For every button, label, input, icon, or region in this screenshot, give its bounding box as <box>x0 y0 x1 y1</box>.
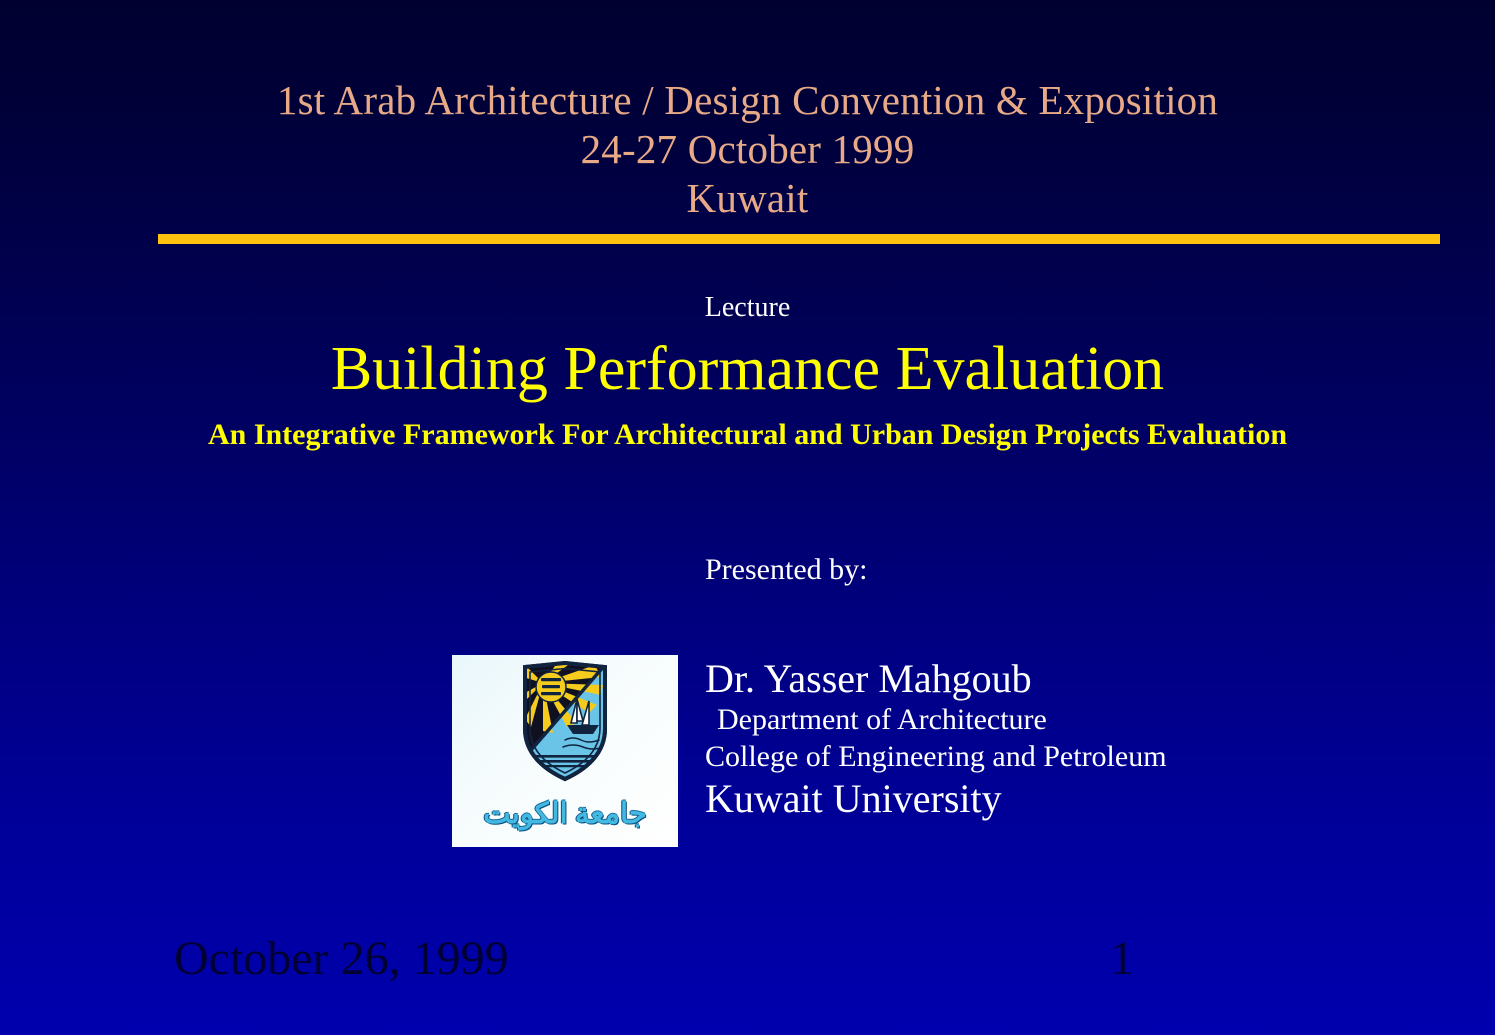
kuwait-university-logo: جامعة الكويت <box>452 655 678 847</box>
presenter-college: College of Engineering and Petroleum <box>705 739 1167 776</box>
divider-rule <box>158 234 1440 244</box>
presenter-info: Dr. Yasser Mahgoub Department of Archite… <box>705 655 1167 824</box>
page-subtitle: An Integrative Framework For Architectur… <box>0 418 1495 452</box>
page-title: Building Performance Evaluation <box>0 337 1495 402</box>
footer-date: October 26, 1999 <box>174 931 509 986</box>
university-crest-icon <box>517 661 613 788</box>
presentation-slide: 1st Arab Architecture / Design Conventio… <box>0 0 1495 1035</box>
logo-arabic-caption: جامعة الكويت <box>452 796 678 831</box>
header-line-location: Kuwait <box>0 174 1495 223</box>
presenter-university: Kuwait University <box>705 775 1167 824</box>
header-line-event: 1st Arab Architecture / Design Conventio… <box>0 76 1495 125</box>
presented-by-label: Presented by: <box>705 553 867 587</box>
presenter-department: Department of Architecture <box>705 702 1167 739</box>
slide-header: 1st Arab Architecture / Design Conventio… <box>0 76 1495 224</box>
presenter-name: Dr. Yasser Mahgoub <box>705 655 1167 702</box>
footer-page-number: 1 <box>1110 931 1134 986</box>
lecture-label: Lecture <box>0 292 1495 324</box>
header-line-dates: 24-27 October 1999 <box>0 125 1495 174</box>
